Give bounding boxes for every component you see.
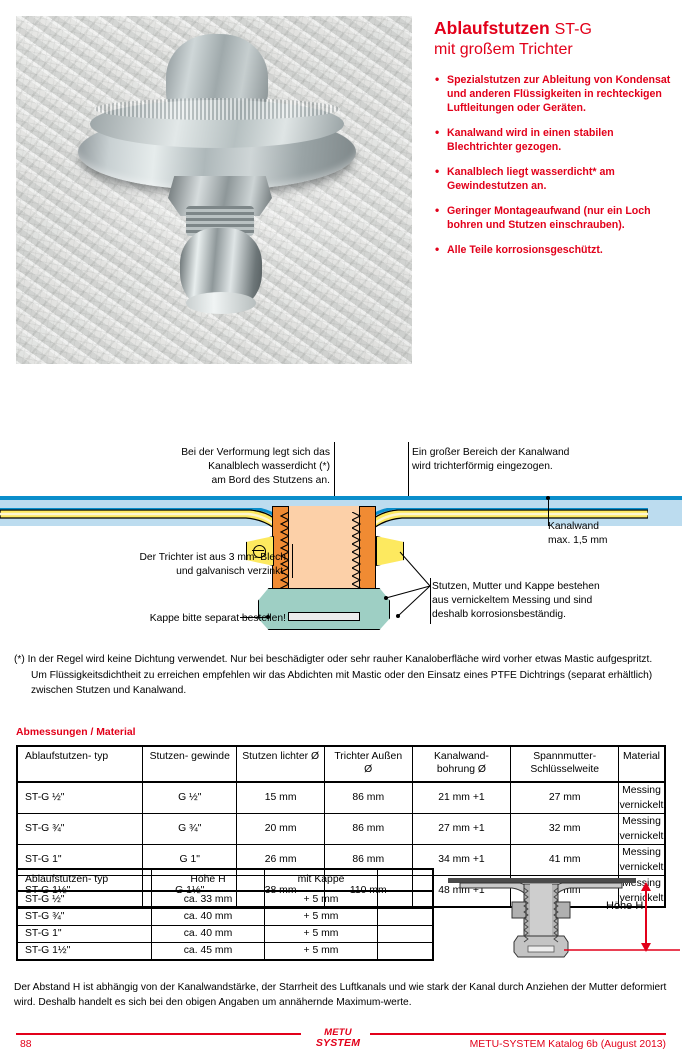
cell-height: ca. 33 mm	[152, 891, 265, 909]
height-table-body: ST-G ½" ca. 33 mm + 5 mm ST-G ¾" ca. 40 …	[17, 891, 433, 960]
leader-dot	[546, 496, 550, 500]
table-row: ST-G ½" G ½" 15 mm 86 mm 21 mm +1 27 mm …	[17, 782, 665, 814]
cell-with-cap: + 5 mm	[265, 926, 378, 943]
col-header-thread: Stutzen- gewinde	[143, 746, 237, 782]
cell-inner-dia: 15 mm	[237, 782, 325, 814]
leader-dot	[266, 615, 270, 619]
cell-material: Messing vernickelt	[619, 782, 665, 814]
footer-rule-right	[370, 1033, 666, 1035]
diagram-note-trichter: Der Trichter ist aus 3 mm–Blech und galv…	[46, 551, 286, 579]
page-number: 88	[20, 1039, 32, 1050]
cell-wrench: 27 mm	[511, 782, 619, 814]
height-table: Ablaufstutzen- typ Höhe H mit Kappe ST-G…	[16, 868, 434, 961]
list-item: Alle Teile korrosionsgeschützt.	[434, 243, 674, 257]
col-header-material: Material	[619, 746, 665, 782]
cell-with-cap: + 5 mm	[265, 891, 378, 909]
table-row: ST-G 1" ca. 40 mm + 5 mm	[17, 926, 433, 943]
header-block: Ablaufstutzen ST-G mit großem Trichter S…	[434, 18, 674, 268]
diagram-note-funnel-forming: Ein großer Bereich der Kanalwand wird tr…	[412, 446, 662, 474]
leader-line	[430, 578, 431, 624]
cell-bore-dia: 27 mm +1	[412, 813, 511, 844]
table-row: ST-G ½" ca. 33 mm + 5 mm	[17, 891, 433, 909]
list-item: Kanalwand wird in einen stabilen Blechtr…	[434, 126, 674, 154]
feature-bullet-list: Spezialstutzen zur Ableitung von Kondens…	[434, 73, 674, 258]
cell-with-cap: + 5 mm	[265, 943, 378, 961]
col-header-funnel-dia: Trichter Außen Ø	[324, 746, 412, 782]
col-header-height: Höhe H	[152, 869, 265, 891]
section-title-dimensions: Abmessungen / Material	[16, 727, 136, 738]
cell-spacer	[378, 943, 434, 961]
cell-material: Messing vernickelt	[619, 813, 665, 844]
diagram-note-deformation: Bei der Verformung legt sich das Kanalbl…	[104, 446, 330, 487]
page-title-main: Ablaufstutzen	[434, 18, 550, 38]
col-header-spacer	[378, 869, 434, 891]
duct-wall-line	[0, 496, 682, 500]
col-header-with-cap: mit Kappe	[265, 869, 378, 891]
cell-type: ST-G ¾"	[17, 813, 143, 844]
table-row: ST-G ¾" G ¾" 20 mm 86 mm 27 mm +1 32 mm …	[17, 813, 665, 844]
cell-spacer	[378, 909, 434, 926]
cell-thread: G ¾"	[143, 813, 237, 844]
cell-inner-dia: 20 mm	[237, 813, 325, 844]
cell-funnel-dia: 86 mm	[324, 782, 412, 814]
cell-spacer	[378, 891, 434, 909]
leader-fan	[380, 540, 432, 627]
page-footer: 88 METU SYSTEM METU-SYSTEM Katalog 6b (A…	[0, 1026, 682, 1058]
table-header-row: Ablaufstutzen- typ Stutzen- gewinde Stut…	[17, 746, 665, 782]
datasheet-page: Ablaufstutzen ST-G mit großem Trichter S…	[0, 0, 682, 1058]
cell-thread: G ½"	[143, 782, 237, 814]
col-header-bore-dia: Kanalwand- bohrung Ø	[412, 746, 511, 782]
cell-type: ST-G ¾"	[17, 909, 152, 926]
cell-height: ca. 40 mm	[152, 926, 265, 943]
table-header-row: Ablaufstutzen- typ Höhe H mit Kappe	[17, 869, 433, 891]
height-diagram: Höhe H	[446, 858, 682, 962]
table-row: ST-G 1½" ca. 45 mm + 5 mm	[17, 943, 433, 961]
cross-section-diagram: Bei der Verformung legt sich das Kanalbl…	[0, 432, 682, 642]
page-title: Ablaufstutzen ST-G	[434, 18, 674, 39]
list-item: Kanalblech liegt wasserdicht* am Gewinde…	[434, 165, 674, 193]
col-header-type: Ablaufstutzen- typ	[17, 869, 152, 891]
footer-rule-left	[16, 1033, 301, 1035]
cell-with-cap: + 5 mm	[265, 909, 378, 926]
kappe-seal-plate	[288, 612, 360, 621]
cell-type: ST-G ½"	[17, 891, 152, 909]
cell-type: ST-G ½"	[17, 782, 143, 814]
list-item: Geringer Montageaufwand (nur ein Loch bo…	[434, 204, 674, 232]
cell-funnel-dia: 86 mm	[324, 813, 412, 844]
cell-height: ca. 40 mm	[152, 909, 265, 926]
leader-line	[240, 617, 268, 618]
cell-bore-dia: 21 mm +1	[412, 782, 511, 814]
cell-wrench: 32 mm	[511, 813, 619, 844]
closing-text: Der Abstand H ist abhängig von der Kanal…	[14, 980, 668, 1011]
leader-line	[292, 544, 293, 578]
page-title-code: ST-G	[555, 21, 592, 38]
diagram-note-material: Stutzen, Mutter und Kappe bestehen aus v…	[432, 580, 672, 621]
cell-type: ST-G 1"	[17, 926, 152, 943]
product-photo	[16, 16, 412, 364]
metu-system-logo: METU SYSTEM	[310, 1028, 366, 1048]
col-header-type: Ablaufstutzen- typ	[17, 746, 143, 782]
photo-part-cap-base	[186, 292, 256, 314]
page-subtitle: mit großem Trichter	[434, 40, 674, 59]
photo-part-funnel-rim	[94, 98, 340, 120]
diagram-note-kanalwand: Kanalwand max. 1,5 mm	[548, 520, 674, 548]
cell-spacer	[378, 926, 434, 943]
catalog-reference: METU-SYSTEM Katalog 6b (August 2013)	[470, 1039, 666, 1050]
height-diagram-label: Höhe H	[606, 900, 643, 912]
col-header-inner-dia: Stutzen lichter Ø	[237, 746, 325, 782]
cell-height: ca. 45 mm	[152, 943, 265, 961]
table-row: ST-G ¾" ca. 40 mm + 5 mm	[17, 909, 433, 926]
footnote-block: (*) In der Regel wird keine Dichtung ver…	[14, 652, 668, 699]
diagram-note-kappe: Kappe bitte separat bestellen!	[78, 612, 286, 626]
cell-type: ST-G 1½"	[17, 943, 152, 961]
closing-note: Der Abstand H ist abhängig von der Kanal…	[14, 980, 668, 1011]
col-header-wrench-size: Spannmutter- Schlüsselweite	[511, 746, 619, 782]
list-item: Spezialstutzen zur Ableitung von Kondens…	[434, 73, 674, 115]
logo-line-2: SYSTEM	[310, 1038, 366, 1049]
footnote-text: (*) In der Regel wird keine Dichtung ver…	[14, 652, 668, 699]
